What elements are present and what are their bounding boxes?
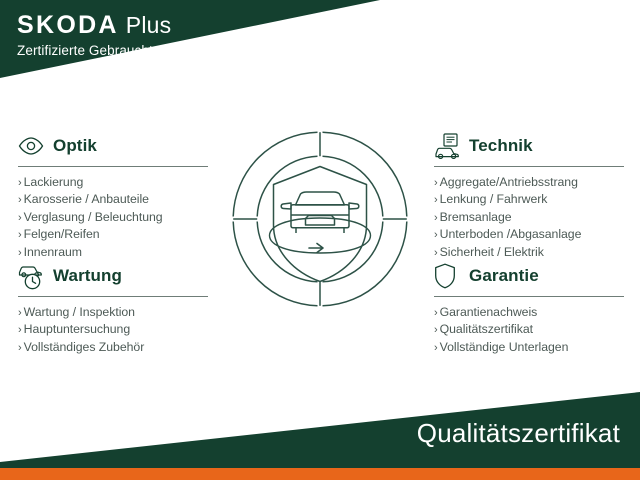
shield-outline	[274, 167, 367, 282]
brand-tagline: Zertifizierte Gebrauchtwagen	[17, 44, 193, 58]
list-item: ›Verglasung / Beleuchtung	[18, 209, 214, 226]
list-item: ›Innenraum	[18, 244, 214, 261]
list-item: ›Felgen/Reifen	[18, 226, 214, 243]
shield-icon	[434, 262, 464, 290]
section-list: ›Wartung / Inspektion ›Hauptuntersuchung…	[18, 304, 214, 356]
list-item: ›Vollständiges Zubehör	[18, 339, 214, 356]
section-title: Garantie	[469, 266, 539, 286]
chevron-right-icon: ›	[434, 324, 438, 336]
list-item-label: Wartung / Inspektion	[24, 305, 135, 319]
chevron-right-icon: ›	[434, 194, 438, 206]
car-clock-icon	[18, 262, 48, 290]
section-optik: Optik ›Lackierung ›Karosserie / Anbautei…	[18, 131, 214, 261]
list-item-label: Hauptuntersuchung	[24, 322, 130, 336]
list-item-label: Felgen/Reifen	[24, 227, 100, 241]
eye-icon	[18, 132, 48, 160]
list-item: ›Bremsanlage	[434, 209, 630, 226]
section-list: ›Garantienachweis ›Qualitätszertifikat ›…	[434, 304, 630, 356]
brand-line: SKODA Plus	[17, 13, 193, 38]
list-item-label: Qualitätszertifikat	[440, 322, 533, 336]
list-item: ›Lackierung	[18, 174, 214, 191]
certified-vehicle-emblem	[227, 126, 413, 312]
section-wartung: Wartung ›Wartung / Inspektion ›Hauptunte…	[18, 261, 214, 356]
section-title: Wartung	[53, 266, 122, 286]
list-item: ›Qualitätszertifikat	[434, 321, 630, 338]
list-item: ›Wartung / Inspektion	[18, 304, 214, 321]
section-garantie: Garantie ›Garantienachweis ›Qualitätszer…	[434, 261, 630, 356]
section-header: Optik	[18, 131, 214, 161]
brand-suffix: Plus	[126, 14, 172, 37]
chevron-right-icon: ›	[434, 342, 438, 354]
chevron-right-icon: ›	[434, 307, 438, 319]
chevron-right-icon: ›	[18, 342, 22, 354]
chevron-right-icon: ›	[18, 247, 22, 259]
list-item-label: Garantienachweis	[440, 305, 538, 319]
brand-header: SKODA Plus Zertifizierte Gebrauchtwagen	[17, 13, 193, 58]
chevron-right-icon: ›	[434, 177, 438, 189]
chevron-right-icon: ›	[18, 177, 22, 189]
section-title: Technik	[469, 136, 533, 156]
section-header: Wartung	[18, 261, 214, 291]
car-document-icon	[434, 132, 464, 160]
orange-bottom-bar	[0, 468, 640, 480]
list-item-label: Aggregate/Antriebsstrang	[440, 175, 578, 189]
list-item-label: Innenraum	[24, 245, 82, 259]
list-item-label: Karosserie / Anbauteile	[24, 192, 149, 206]
section-list: ›Aggregate/Antriebsstrang ›Lenkung / Fah…	[434, 174, 630, 261]
list-item: ›Garantienachweis	[434, 304, 630, 321]
chevron-right-icon: ›	[434, 212, 438, 224]
section-divider	[18, 166, 208, 167]
list-item-label: Sicherheit / Elektrik	[440, 245, 544, 259]
chevron-right-icon: ›	[434, 229, 438, 241]
section-title: Optik	[53, 136, 97, 156]
chevron-right-icon: ›	[18, 307, 22, 319]
footer-title: Qualitätszertifikat	[417, 418, 620, 449]
section-divider	[18, 296, 208, 297]
list-item-label: Vollständige Unterlagen	[440, 340, 569, 354]
section-list: ›Lackierung ›Karosserie / Anbauteile ›Ve…	[18, 174, 214, 261]
brand-wordmark: SKODA	[17, 13, 119, 38]
list-item: ›Hauptuntersuchung	[18, 321, 214, 338]
car-front-icon	[281, 192, 359, 233]
list-item-label: Lackierung	[24, 175, 84, 189]
chevron-right-icon: ›	[18, 324, 22, 336]
section-technik: Technik ›Aggregate/Antriebsstrang ›Lenku…	[434, 131, 630, 261]
section-header: Garantie	[434, 261, 630, 291]
list-item-label: Bremsanlage	[440, 210, 512, 224]
section-divider	[434, 296, 624, 297]
section-header: Technik	[434, 131, 630, 161]
list-item: ›Karosserie / Anbauteile	[18, 191, 214, 208]
list-item: ›Unterboden /Abgasanlage	[434, 226, 630, 243]
list-item: ›Vollständige Unterlagen	[434, 339, 630, 356]
arrow-head-icon	[309, 244, 323, 253]
list-item: ›Aggregate/Antriebsstrang	[434, 174, 630, 191]
certificate-poster: SKODA Plus Zertifizierte Gebrauchtwagen …	[0, 0, 640, 480]
chevron-right-icon: ›	[18, 229, 22, 241]
list-item-label: Unterboden /Abgasanlage	[440, 227, 582, 241]
list-item: ›Lenkung / Fahrwerk	[434, 191, 630, 208]
chevron-right-icon: ›	[18, 194, 22, 206]
section-divider	[434, 166, 624, 167]
list-item-label: Vollständiges Zubehör	[24, 340, 145, 354]
chevron-right-icon: ›	[18, 212, 22, 224]
list-item-label: Verglasung / Beleuchtung	[24, 210, 163, 224]
chevron-right-icon: ›	[434, 247, 438, 259]
list-item-label: Lenkung / Fahrwerk	[440, 192, 548, 206]
list-item: ›Sicherheit / Elektrik	[434, 244, 630, 261]
